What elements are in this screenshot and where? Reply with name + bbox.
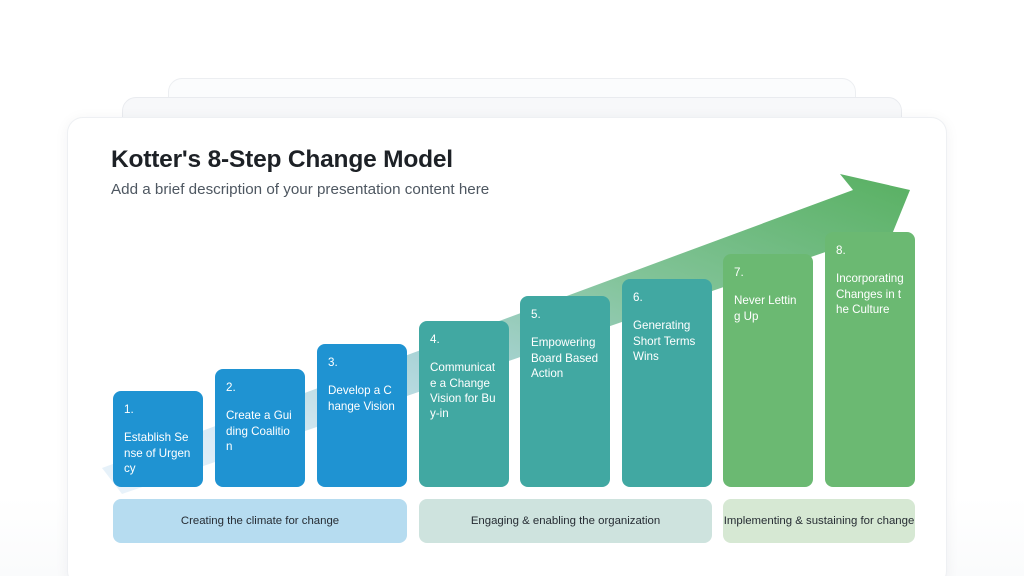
step-bar-2[interactable]: 2. Create a Guiding Coalition [215,369,305,487]
step-number-1: 1. [124,403,192,417]
step-bar-6[interactable]: 6. Generating Short Terms Wins [622,279,712,487]
phase-label-engaging-enabling: Engaging & enabling the organization [471,515,660,527]
kotter-change-model-chart: 1. Establish Sense of Urgency 2. Create … [68,118,947,576]
phase-bar-implementing-sustaining[interactable]: Implementing & sustaining for change [723,499,915,543]
step-number-8: 8. [836,244,904,258]
step-label-4: Communicate a Change Vision for Buy-in [430,360,498,421]
step-label-1: Establish Sense of Urgency [124,430,192,476]
phase-label-implementing-sustaining: Implementing & sustaining for change [724,515,915,527]
step-label-6: Generating Short Terms Wins [633,318,701,364]
step-number-2: 2. [226,381,294,395]
slide-card[interactable]: Kotter's 8-Step Change Model Add a brief… [67,117,947,576]
step-label-7: Never Letting Up [734,293,802,324]
step-label-8: Incorporating Changes in the Culture [836,271,904,317]
step-bar-1[interactable]: 1. Establish Sense of Urgency [113,391,203,487]
phase-bar-creating-climate[interactable]: Creating the climate for change [113,499,407,543]
step-number-4: 4. [430,333,498,347]
step-number-3: 3. [328,356,396,370]
step-number-5: 5. [531,308,599,322]
step-label-5: Empowering Board Based Action [531,335,599,381]
step-bar-7[interactable]: 7. Never Letting Up [723,254,813,487]
phase-bar-engaging-enabling[interactable]: Engaging & enabling the organization [419,499,712,543]
phase-label-creating-climate: Creating the climate for change [181,515,339,527]
step-label-2: Create a Guiding Coalition [226,408,294,454]
step-bar-5[interactable]: 5. Empowering Board Based Action [520,296,610,487]
step-bar-8[interactable]: 8. Incorporating Changes in the Culture [825,232,915,487]
step-number-6: 6. [633,291,701,305]
step-number-7: 7. [734,266,802,280]
step-label-3: Develop a Change Vision [328,383,396,414]
step-bar-3[interactable]: 3. Develop a Change Vision [317,344,407,487]
step-bar-4[interactable]: 4. Communicate a Change Vision for Buy-i… [419,321,509,487]
